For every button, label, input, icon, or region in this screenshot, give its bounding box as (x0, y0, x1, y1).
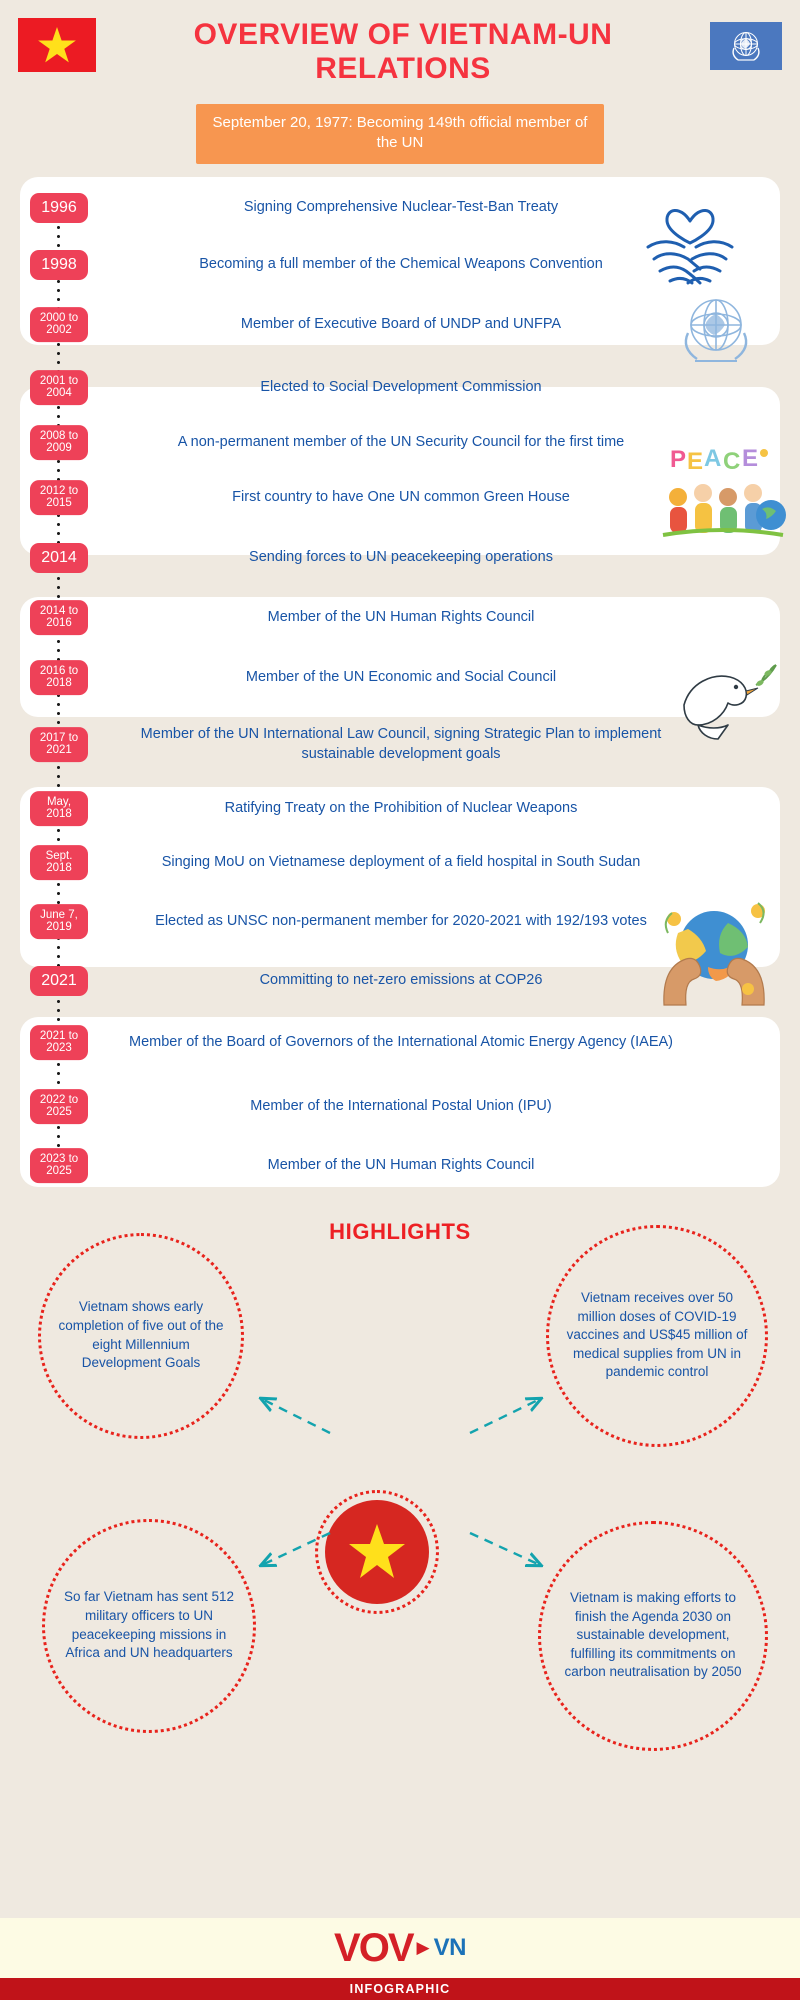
timeline-date-badge: 2014 (30, 543, 88, 573)
timeline-event-text: Member of the UN International Law Counc… (20, 719, 780, 770)
timeline-row: May, 2018Ratifying Treaty on the Prohibi… (20, 781, 780, 837)
timeline-event-text: A non-permanent member of the UN Securit… (20, 427, 780, 458)
timeline-event-text: Becoming a full member of the Chemical W… (20, 249, 780, 280)
timeline-event-text: Sending forces to UN peacekeeping operat… (20, 542, 780, 573)
membership-banner: September 20, 1977: Becoming 149th offic… (196, 104, 604, 164)
timeline-event-text: Elected to Social Development Commission (20, 372, 780, 403)
footer: VOV ▶ VN INFOGRAPHIC (0, 1918, 800, 2000)
vov-logo-text: VOV (334, 1926, 412, 1971)
timeline-date-badge: 2022 to 2025 (30, 1089, 88, 1125)
timeline-event-text: Elected as UNSC non-permanent member for… (20, 906, 780, 937)
timeline-event-text: Ratifying Treaty on the Prohibition of N… (20, 793, 780, 824)
timeline-row: 2016 to 2018Member of the UN Economic an… (20, 647, 780, 709)
timeline-row: 2000 to 2002Member of Executive Board of… (20, 291, 780, 359)
membership-banner-wrap: September 20, 1977: Becoming 149th offic… (0, 104, 800, 164)
timeline-row: 2012 to 2015First country to have One UN… (20, 469, 780, 527)
highlight-bubble-1: Vietnam shows early completion of five o… (38, 1233, 244, 1439)
timeline-date-badge: 2021 to 2023 (30, 1025, 88, 1061)
timeline-row: 2023 to 2025Member of the UN Human Right… (20, 1135, 780, 1197)
page-title: Overview of Vietnam-UN Relations (96, 14, 710, 85)
timeline-event-text: Singing MoU on Vietnamese deployment of … (20, 847, 780, 878)
timeline-date-badge: 2001 to 2004 (30, 370, 88, 406)
highlight-bubble-4: Vietnam is making efforts to finish the … (538, 1521, 768, 1751)
highlight-bubble-3: So far Vietnam has sent 512 military off… (42, 1519, 256, 1733)
play-triangle-icon: ▶ (417, 1938, 430, 1958)
timeline-date-badge: 1998 (30, 250, 88, 280)
highlight-text: Vietnam is making efforts to finish the … (556, 1589, 750, 1682)
header: Overview of Vietnam-UN Relations (0, 0, 800, 100)
timeline-row: 1998Becoming a full member of the Chemic… (20, 239, 780, 291)
timeline-date-badge: 1996 (30, 193, 88, 223)
timeline-event-text: Member of Executive Board of UNDP and UN… (20, 309, 780, 340)
timeline-date-badge: 2008 to 2009 (30, 425, 88, 461)
vov-logo[interactable]: VOV ▶ VN (0, 1918, 800, 1974)
highlight-text: Vietnam shows early completion of five o… (56, 1298, 226, 1373)
timeline-date-badge: 2014 to 2016 (30, 600, 88, 636)
timeline-event-text: Member of the International Postal Union… (20, 1091, 780, 1122)
timeline-row: 2014Sending forces to UN peacekeeping op… (20, 527, 780, 589)
timeline-event-text: Member of the Board of Governors of the … (20, 1027, 780, 1058)
vietnam-flag-icon (18, 18, 96, 72)
vn-logo-text: VN (434, 1934, 466, 1962)
timeline-row: 2017 to 2021Member of the UN Internation… (20, 709, 780, 781)
timeline: 1996Signing Comprehensive Nuclear-Test-B… (20, 177, 780, 1203)
timeline-event-text: Member of the UN Human Rights Council (20, 1150, 780, 1181)
timeline-row: Sept. 2018Singing MoU on Vietnamese depl… (20, 837, 780, 889)
timeline-event-text: Committing to net-zero emissions at COP2… (20, 965, 780, 996)
united-nations-flag-icon (710, 22, 782, 70)
timeline-row: 2001 to 2004Elected to Social Developmen… (20, 359, 780, 417)
highlight-text: Vietnam receives over 50 million doses o… (564, 1289, 750, 1382)
timeline-event-text: Signing Comprehensive Nuclear-Test-Ban T… (20, 192, 780, 223)
center-vietnam-flag-icon (325, 1500, 429, 1604)
timeline-date-badge: 2017 to 2021 (30, 727, 88, 763)
timeline-date-badge: Sept. 2018 (30, 845, 88, 881)
timeline-date-badge: 2016 to 2018 (30, 660, 88, 696)
timeline-date-badge: 2000 to 2002 (30, 307, 88, 343)
timeline-event-text: Member of the UN Human Rights Council (20, 602, 780, 633)
timeline-date-badge: 2021 (30, 966, 88, 996)
timeline-date-badge: 2023 to 2025 (30, 1148, 88, 1184)
infographic-page: Overview of Vietnam-UN Relations Septemb… (0, 0, 800, 2000)
timeline-row: 2021Committing to net-zero emissions at … (20, 955, 780, 1007)
timeline-row: 2008 to 2009A non-permanent member of th… (20, 417, 780, 469)
timeline-row: 2014 to 2016Member of the UN Human Right… (20, 589, 780, 647)
timeline-row: 2022 to 2025Member of the International … (20, 1079, 780, 1135)
timeline-event-text: Member of the UN Economic and Social Cou… (20, 662, 780, 693)
timeline-date-badge: June 7, 2019 (30, 904, 88, 940)
highlight-text: So far Vietnam has sent 512 military off… (60, 1588, 238, 1663)
timeline-row: 2021 to 2023Member of the Board of Gover… (20, 1007, 780, 1079)
timeline-event-text: First country to have One UN common Gree… (20, 482, 780, 513)
timeline-row: 1996Signing Comprehensive Nuclear-Test-B… (20, 177, 780, 239)
footer-caption: INFOGRAPHIC (0, 1978, 800, 2000)
highlight-bubble-2: Vietnam receives over 50 million doses o… (546, 1225, 768, 1447)
timeline-date-badge: May, 2018 (30, 791, 88, 827)
timeline-row: June 7, 2019Elected as UNSC non-permanen… (20, 889, 780, 955)
timeline-date-badge: 2012 to 2015 (30, 480, 88, 516)
